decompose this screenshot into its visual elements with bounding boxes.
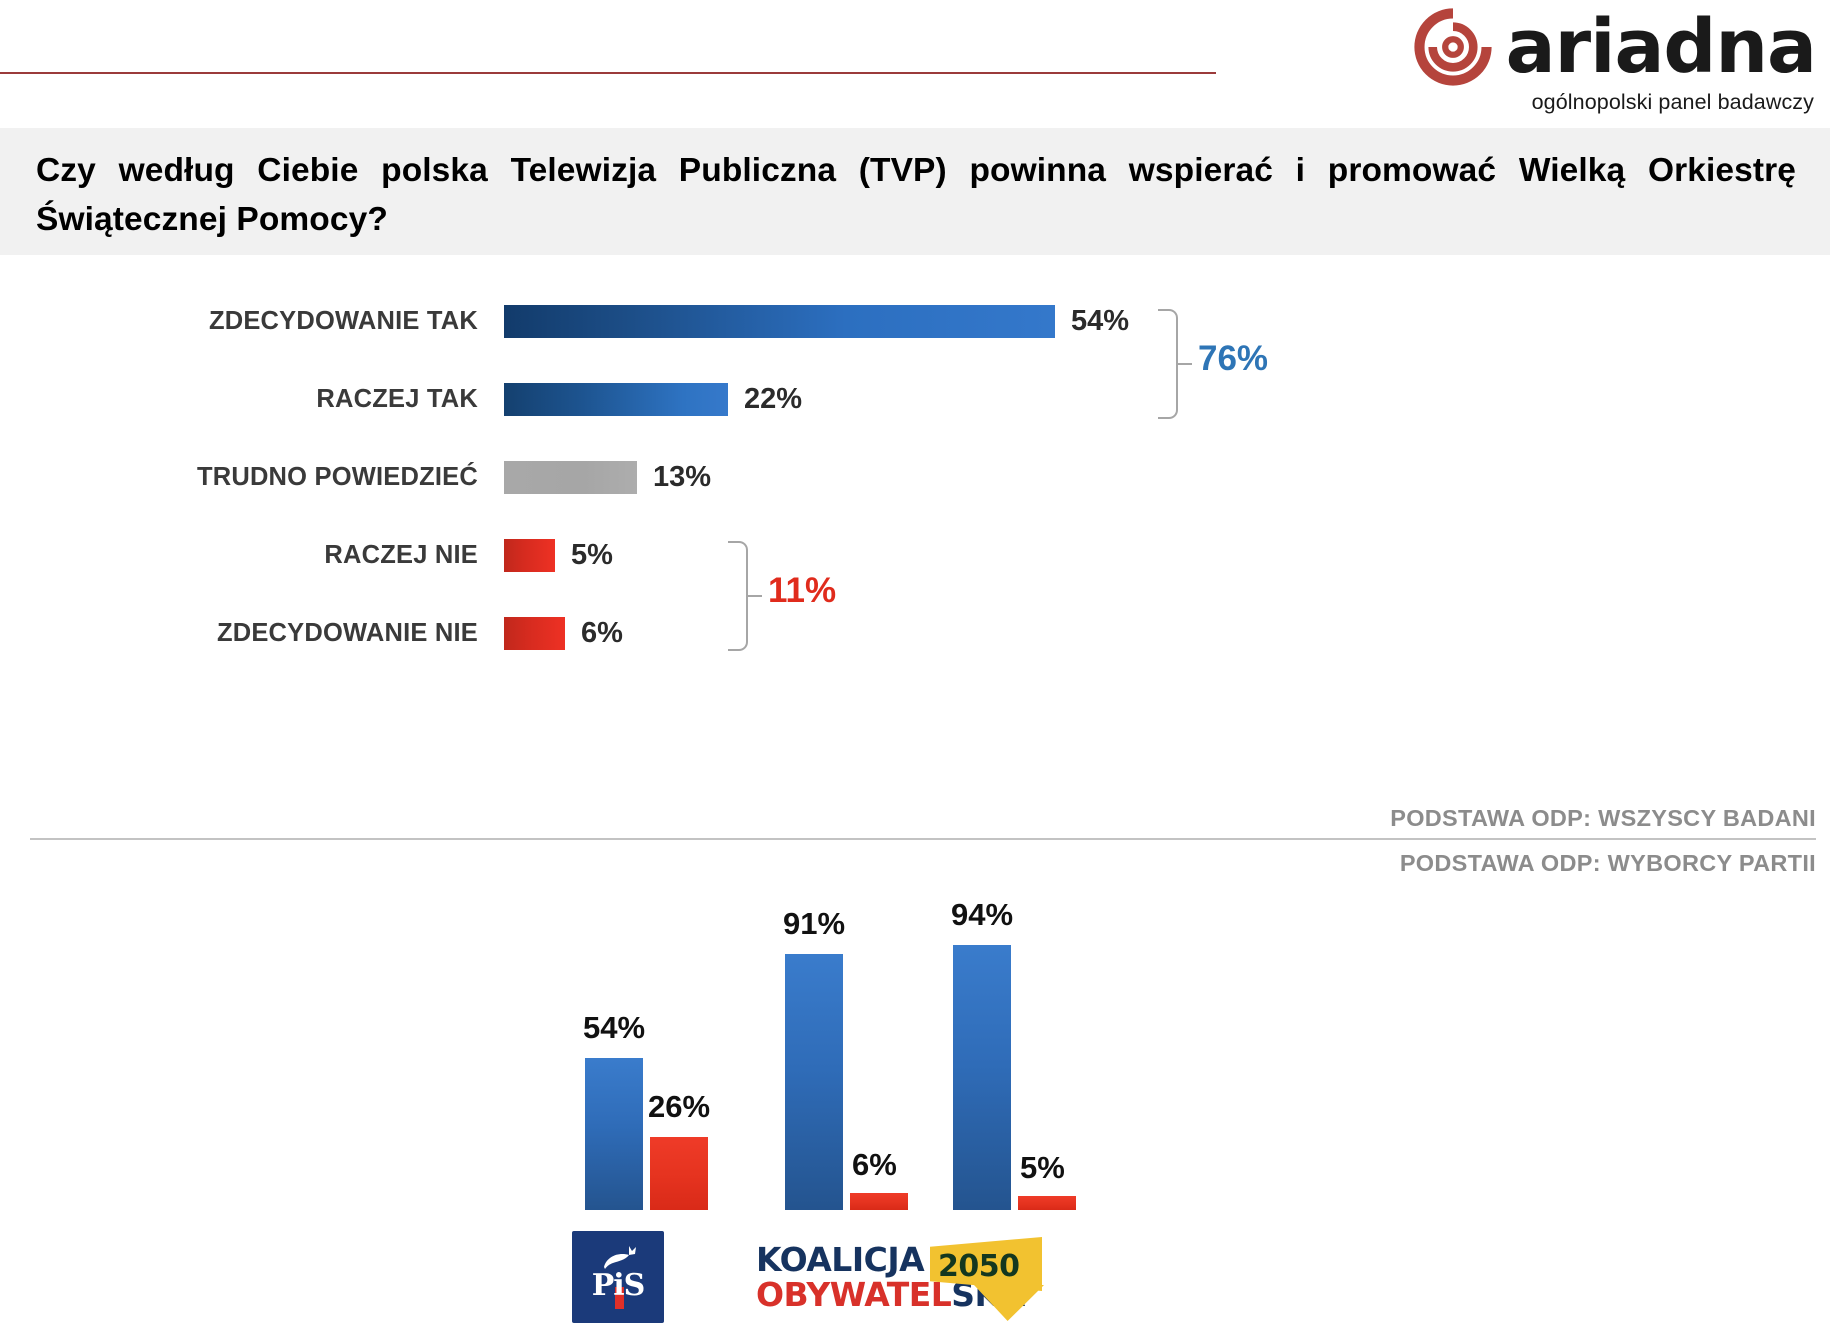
bar-value: 54% — [1071, 305, 1129, 338]
brand-logo: ariadna ogólnopolski panel badawczy — [1414, 8, 1816, 115]
bar-yes — [953, 945, 1011, 1210]
p2050-yellow-tail — [974, 1285, 1044, 1321]
brand-tagline: ogólnopolski panel badawczy — [1532, 90, 1814, 115]
bracket-yes — [1158, 309, 1178, 419]
bar-no-value: 6% — [852, 1147, 897, 1183]
table-row: RACZEJ TAK 22% — [0, 378, 1830, 420]
p2050-logo-text: 2050 — [938, 1249, 1020, 1284]
party-group-2050: 94% 5% 2050 — [928, 880, 1158, 1338]
footnote-party-voters: PODSTAWA ODP: WYBORCY PARTII — [1400, 850, 1816, 877]
footnote-all-respondents: PODSTAWA ODP: WSZYSCY BADANI — [1390, 805, 1816, 832]
responses-bar-chart: ZDECYDOWANIE TAK 54% RACZEJ TAK 22% TRUD… — [0, 275, 1830, 670]
table-row: TRUDNO POWIEDZIEĆ 13% — [0, 456, 1830, 498]
bar-label: RACZEJ NIE — [0, 541, 478, 570]
table-row: ZDECYDOWANIE TAK 54% — [0, 300, 1830, 342]
bar-label: RACZEJ TAK — [0, 385, 478, 414]
question-title-band: Czy według Ciebie polska Telewizja Publi… — [0, 128, 1830, 255]
table-row: ZDECYDOWANIE NIE 6% — [0, 612, 1830, 654]
bar-value: 5% — [571, 539, 613, 572]
bar-no-value: 26% — [648, 1089, 710, 1125]
page-title: Czy według Ciebie polska Telewizja Publi… — [36, 147, 1796, 244]
bar-no — [1018, 1196, 1076, 1210]
bar-track: 5% — [504, 534, 613, 576]
brand-row: ariadna — [1414, 8, 1816, 86]
bar-fill — [504, 461, 637, 494]
party-voters-bar-chart: 54% 26% PiS 91% 6% KOALICJA OBYWATELSKA — [0, 880, 1830, 1338]
bar-label: TRUDNO POWIEDZIEĆ — [0, 463, 478, 492]
bar-track: 22% — [504, 378, 802, 420]
bracket-yes-value: 76% — [1198, 339, 1268, 379]
bar-fill — [504, 383, 728, 416]
bar-yes — [585, 1058, 643, 1210]
bracket-no-tick — [748, 595, 762, 597]
pis-logo-text: PiS — [572, 1268, 664, 1303]
bar-fill — [504, 539, 555, 572]
bracket-yes-tick — [1178, 363, 1192, 365]
bar-no — [850, 1193, 908, 1210]
bar-value: 6% — [581, 617, 623, 650]
bar-value: 13% — [653, 461, 711, 494]
party-bars — [560, 910, 790, 1210]
bar-yes-value: 94% — [951, 897, 1013, 933]
p2050-logo-mark: 2050 — [930, 1233, 1050, 1321]
bracket-no-value: 11% — [768, 571, 836, 611]
bar-fill — [504, 305, 1055, 338]
bar-no — [650, 1137, 708, 1210]
bar-value: 22% — [744, 383, 802, 416]
bar-fill — [504, 617, 565, 650]
header-divider-rule — [0, 72, 1216, 74]
bar-yes-value: 54% — [583, 1010, 645, 1046]
polska-2050-logo: 2050 — [928, 1218, 1158, 1336]
ko-logo-line2-red: OBYWATEL — [756, 1275, 951, 1314]
pis-logo-mark: PiS — [572, 1231, 664, 1323]
bar-no-value: 5% — [1020, 1150, 1065, 1186]
bar-yes-value: 91% — [783, 906, 845, 942]
bar-track: 6% — [504, 612, 623, 654]
bar-track: 54% — [504, 300, 1129, 342]
bar-yes — [785, 954, 843, 1210]
bar-label: ZDECYDOWANIE TAK — [0, 307, 478, 336]
brand-wordmark: ariadna — [1506, 16, 1816, 78]
table-row: RACZEJ NIE 5% — [0, 534, 1830, 576]
bar-label: ZDECYDOWANIE NIE — [0, 619, 478, 648]
ariadna-spiral-logo-icon — [1414, 8, 1492, 86]
page-header: ariadna ogólnopolski panel badawczy — [0, 0, 1830, 118]
bar-track: 13% — [504, 456, 711, 498]
footnote-divider-rule — [30, 838, 1816, 840]
bracket-no — [728, 541, 748, 651]
